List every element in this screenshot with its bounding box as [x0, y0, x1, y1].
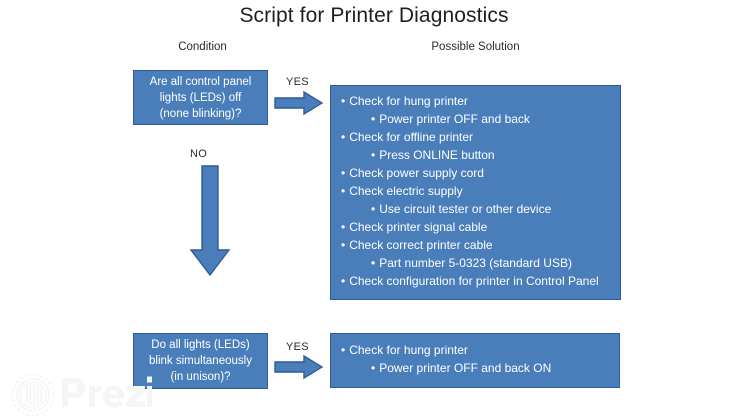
arrow-right-icon-2 — [274, 354, 324, 380]
solution-item: Power printer OFF and back — [339, 110, 612, 128]
solution-item: Check printer signal cable — [339, 218, 612, 236]
prezi-wordmark — [62, 377, 152, 408]
solution-item: Check electric supply — [339, 182, 612, 200]
yes-label-1: YES — [286, 76, 309, 88]
solution-box-2[interactable]: Check for hung printer Power printer OFF… — [330, 333, 620, 388]
column-header-solution: Possible Solution — [330, 41, 621, 53]
page-title: Script for Printer Diagnostics — [0, 4, 748, 28]
condition-box-2-line-2: blink simultaneously — [140, 353, 261, 369]
solution-item: Press ONLINE button — [339, 146, 612, 164]
solution-item: Check for offline printer — [339, 128, 612, 146]
prezi-watermark-logo — [12, 374, 152, 419]
solution-item: Part number 5-0323 (standard USB) — [339, 254, 612, 272]
solution-item: Check power supply cord — [339, 164, 612, 182]
solution-item: Check for hung printer — [339, 341, 611, 359]
solution-box-1[interactable]: Check for hung printer Power printer OFF… — [330, 85, 621, 300]
solution-item: Power printer OFF and back ON — [339, 359, 611, 377]
solution-list-1: Check for hung printer Power printer OFF… — [331, 86, 620, 290]
solution-list-2: Check for hung printer Power printer OFF… — [331, 334, 619, 377]
solution-item: Check configuration for printer in Contr… — [339, 272, 612, 290]
arrow-down-icon — [188, 165, 232, 277]
yes-label-2: YES — [286, 341, 309, 353]
solution-item: Use circuit tester or other device — [339, 200, 612, 218]
condition-box-2[interactable]: Do all lights (LEDs) blink simultaneousl… — [133, 333, 268, 389]
condition-box-1-line-3: (none blinking)? — [140, 106, 261, 122]
column-header-condition: Condition — [140, 41, 265, 53]
condition-box-2-line-1: Do all lights (LEDs) — [140, 337, 261, 353]
condition-box-2-line-3: (in unison)? — [140, 369, 261, 385]
prezi-sunburst-icon — [13, 375, 54, 416]
solution-item: Check correct printer cable — [339, 236, 612, 254]
arrow-right-icon-1 — [274, 90, 324, 116]
no-label: NO — [190, 148, 207, 160]
solution-item: Check for hung printer — [339, 92, 612, 110]
condition-box-1-line-1: Are all control panel — [140, 74, 261, 90]
condition-box-1[interactable]: Are all control panel lights (LEDs) off … — [133, 70, 268, 125]
slide-canvas: Script for Printer Diagnostics Condition… — [0, 0, 748, 419]
condition-box-1-line-2: lights (LEDs) off — [140, 90, 261, 106]
